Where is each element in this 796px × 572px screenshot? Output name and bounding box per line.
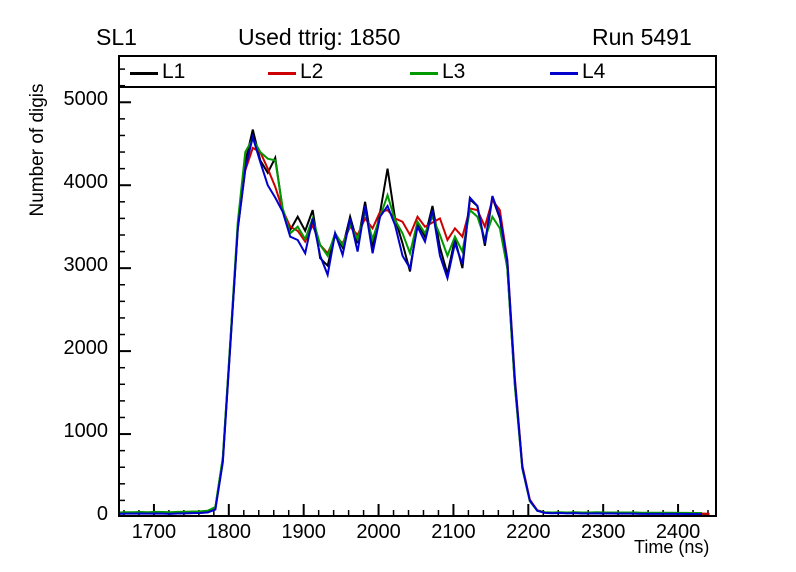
y-tick-label: 2000 — [50, 337, 108, 360]
x-tick-label: 2100 — [418, 521, 488, 544]
y-tick-label: 3000 — [50, 254, 108, 277]
y-tick-label: 0 — [50, 503, 108, 526]
x-tick-label: 1800 — [194, 521, 264, 544]
x-tick-label: 2200 — [493, 521, 563, 544]
legend-swatch-l1 — [130, 72, 158, 75]
legend: L1L2L3L4 — [120, 57, 715, 88]
x-tick-label: 2400 — [643, 521, 713, 544]
x-tick-label: 2000 — [344, 521, 414, 544]
x-tick-label: 1700 — [119, 521, 189, 544]
plot-area: L1L2L3L4 — [118, 55, 717, 517]
y-tick-label: 1000 — [50, 420, 108, 443]
x-tick-label: 1900 — [269, 521, 339, 544]
legend-label-l1: L1 — [162, 60, 185, 84]
chart-root: SL1 Used ttrig: 1850 Run 5491 Number of … — [0, 0, 796, 572]
legend-swatch-l4 — [550, 72, 578, 75]
legend-label-l2: L2 — [300, 60, 323, 84]
legend-label-l4: L4 — [582, 60, 605, 84]
y-tick-label: 4000 — [50, 171, 108, 194]
legend-label-l3: L3 — [442, 60, 465, 84]
superlayer-title: SL1 — [96, 24, 137, 51]
x-tick-label: 2300 — [568, 521, 638, 544]
legend-swatch-l3 — [410, 72, 438, 75]
plot-frame — [118, 55, 717, 517]
y-tick-label: 5000 — [50, 88, 108, 111]
run-title: Run 5491 — [592, 24, 692, 51]
y-axis-label: Number of digis — [27, 65, 49, 235]
ttrig-title: Used ttrig: 1850 — [238, 24, 400, 51]
legend-swatch-l2 — [268, 72, 296, 75]
